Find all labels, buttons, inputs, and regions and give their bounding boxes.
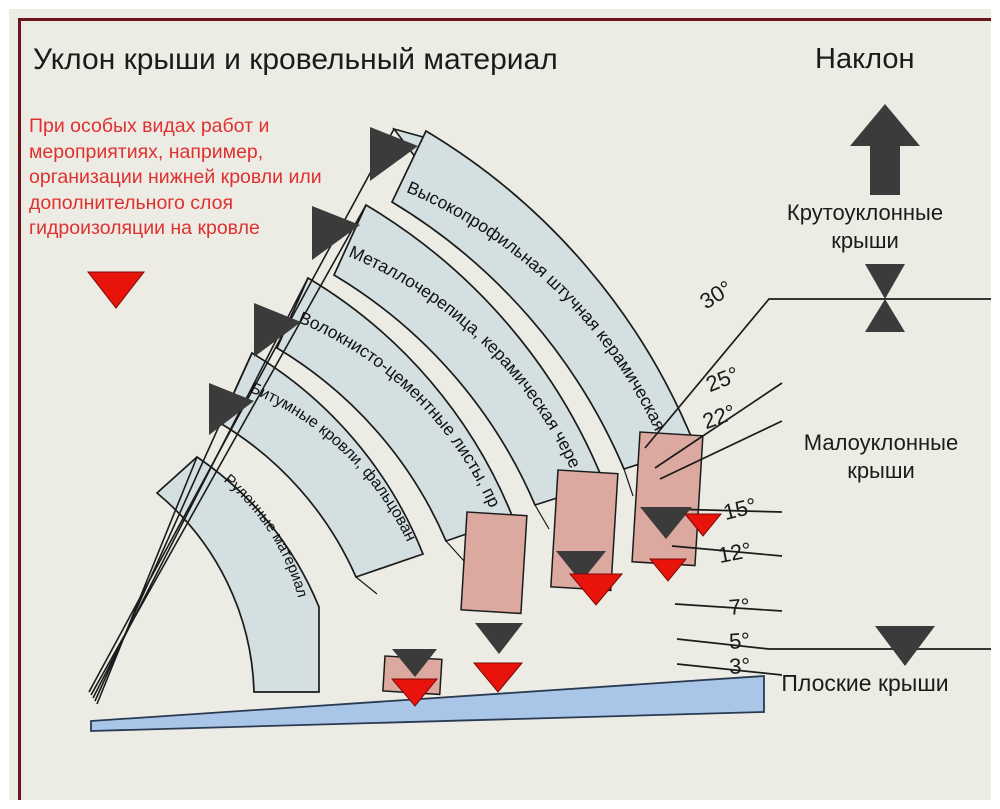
infographic-root: Высокопрофильная штучная керамическая че… [0, 0, 1000, 809]
ray-30 [645, 299, 998, 448]
special-works-note: При особых видах работ и мероприятиях, н… [29, 114, 359, 242]
zone-low-line1: Малоуклонные [751, 429, 1000, 457]
extension-band-1 [632, 432, 703, 566]
dark-down-triangle-3 [475, 623, 523, 654]
red-down-triangle-2 [650, 559, 686, 581]
ray-5 [677, 639, 998, 649]
band-5-label: Рулонные материалы [9, 9, 311, 599]
bowtie-icon-bottom [865, 299, 905, 332]
note-red-triangle-icon [88, 272, 144, 308]
down-triangle-icon [875, 626, 935, 666]
zone-label-flat: Плоские крыши [735, 669, 995, 697]
red-down-triangle-4 [474, 663, 522, 692]
angle-label-3: 3° [729, 653, 751, 680]
zone-steep-line1: Крутоуклонные [735, 199, 995, 227]
angle-label-7: 7° [728, 593, 751, 621]
zone-low-line2: крыши [751, 457, 1000, 485]
red-down-triangle-3 [570, 574, 622, 605]
right-header: Наклон [815, 43, 914, 76]
slope-direction-icons [850, 104, 935, 666]
up-arrow-icon [850, 104, 920, 195]
zone-label-low: Малоуклонные крыши [751, 429, 1000, 485]
bowtie-icon-top [865, 264, 905, 299]
angle-label-5: 5° [728, 628, 751, 655]
zone-flat-line1: Плоские крыши [735, 669, 995, 697]
page-title: Уклон крыши и кровельный материал [33, 43, 558, 77]
extension-band-3 [461, 512, 527, 613]
zone-steep-line2: крыши [735, 227, 995, 255]
zone-label-steep: Крутоуклонные крыши [735, 199, 995, 255]
